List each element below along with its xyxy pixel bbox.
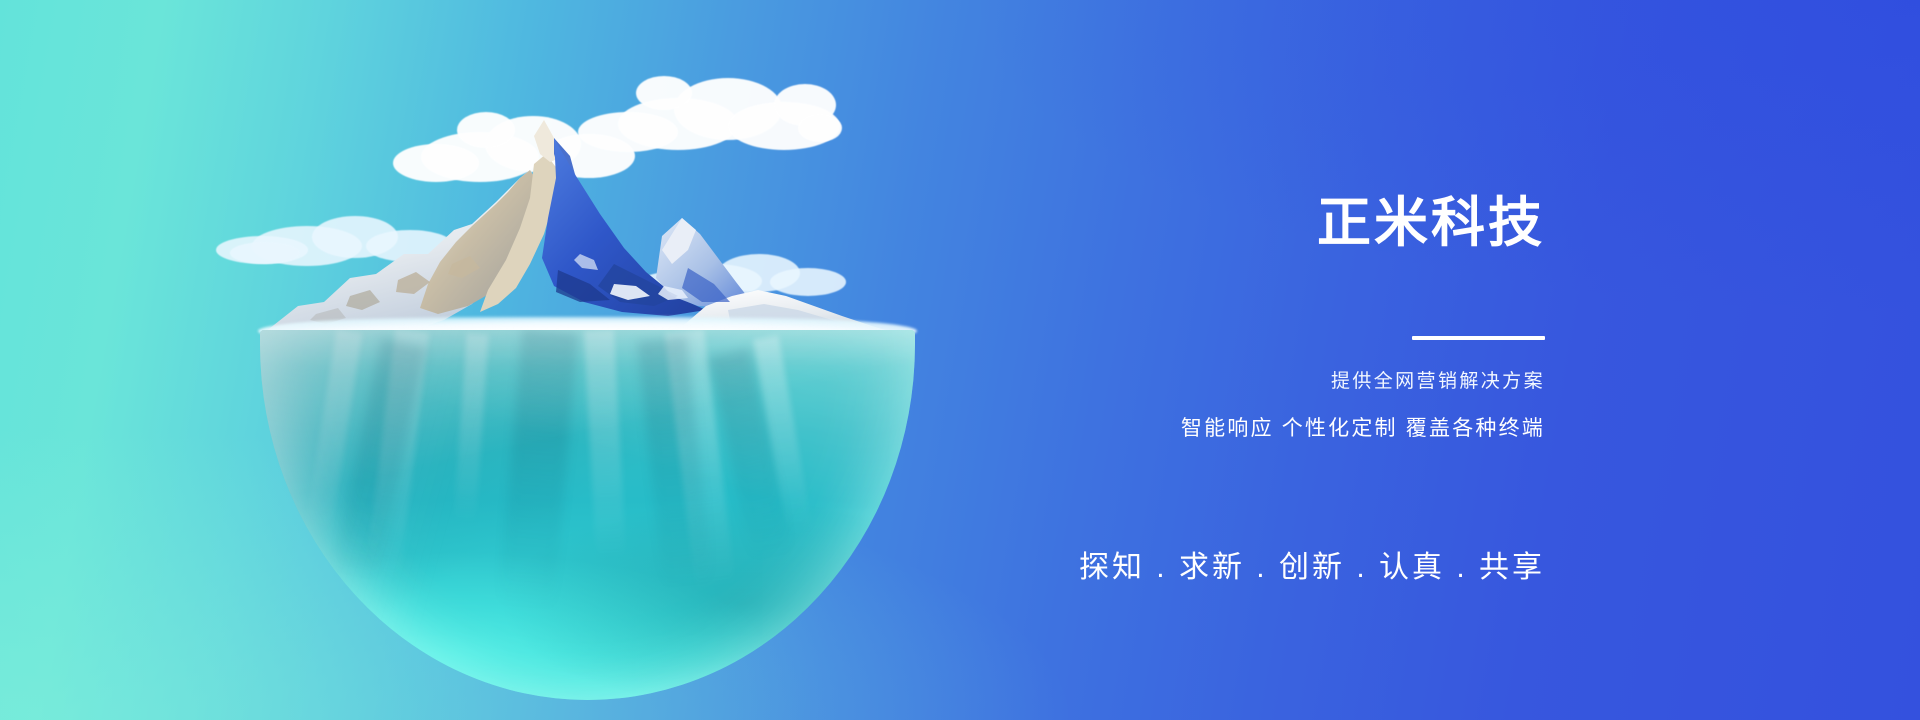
hero-copy: 正米科技 提供全网营销解决方案 智能响应 个性化定制 覆盖各种终端 探知 . 求… — [985, 0, 1545, 720]
submerged-water-dome — [260, 330, 915, 700]
water-shadow-streaks — [260, 330, 915, 700]
water-light-streaks — [260, 330, 915, 700]
brand-title: 正米科技 — [1317, 193, 1545, 253]
subtitle-secondary: 智能响应 个性化定制 覆盖各种终端 — [1181, 415, 1545, 443]
title-divider — [1412, 336, 1545, 340]
mountain-peak-graphic — [258, 58, 918, 358]
subtitle-primary: 提供全网营销解决方案 — [1331, 369, 1545, 395]
floating-mountain-island-artwork — [258, 58, 918, 658]
hero-banner: 正米科技 提供全网营销解决方案 智能响应 个性化定制 覆盖各种终端 探知 . 求… — [0, 0, 1920, 720]
values-tagline: 探知 . 求新 . 创新 . 认真 . 共享 — [1079, 548, 1545, 588]
